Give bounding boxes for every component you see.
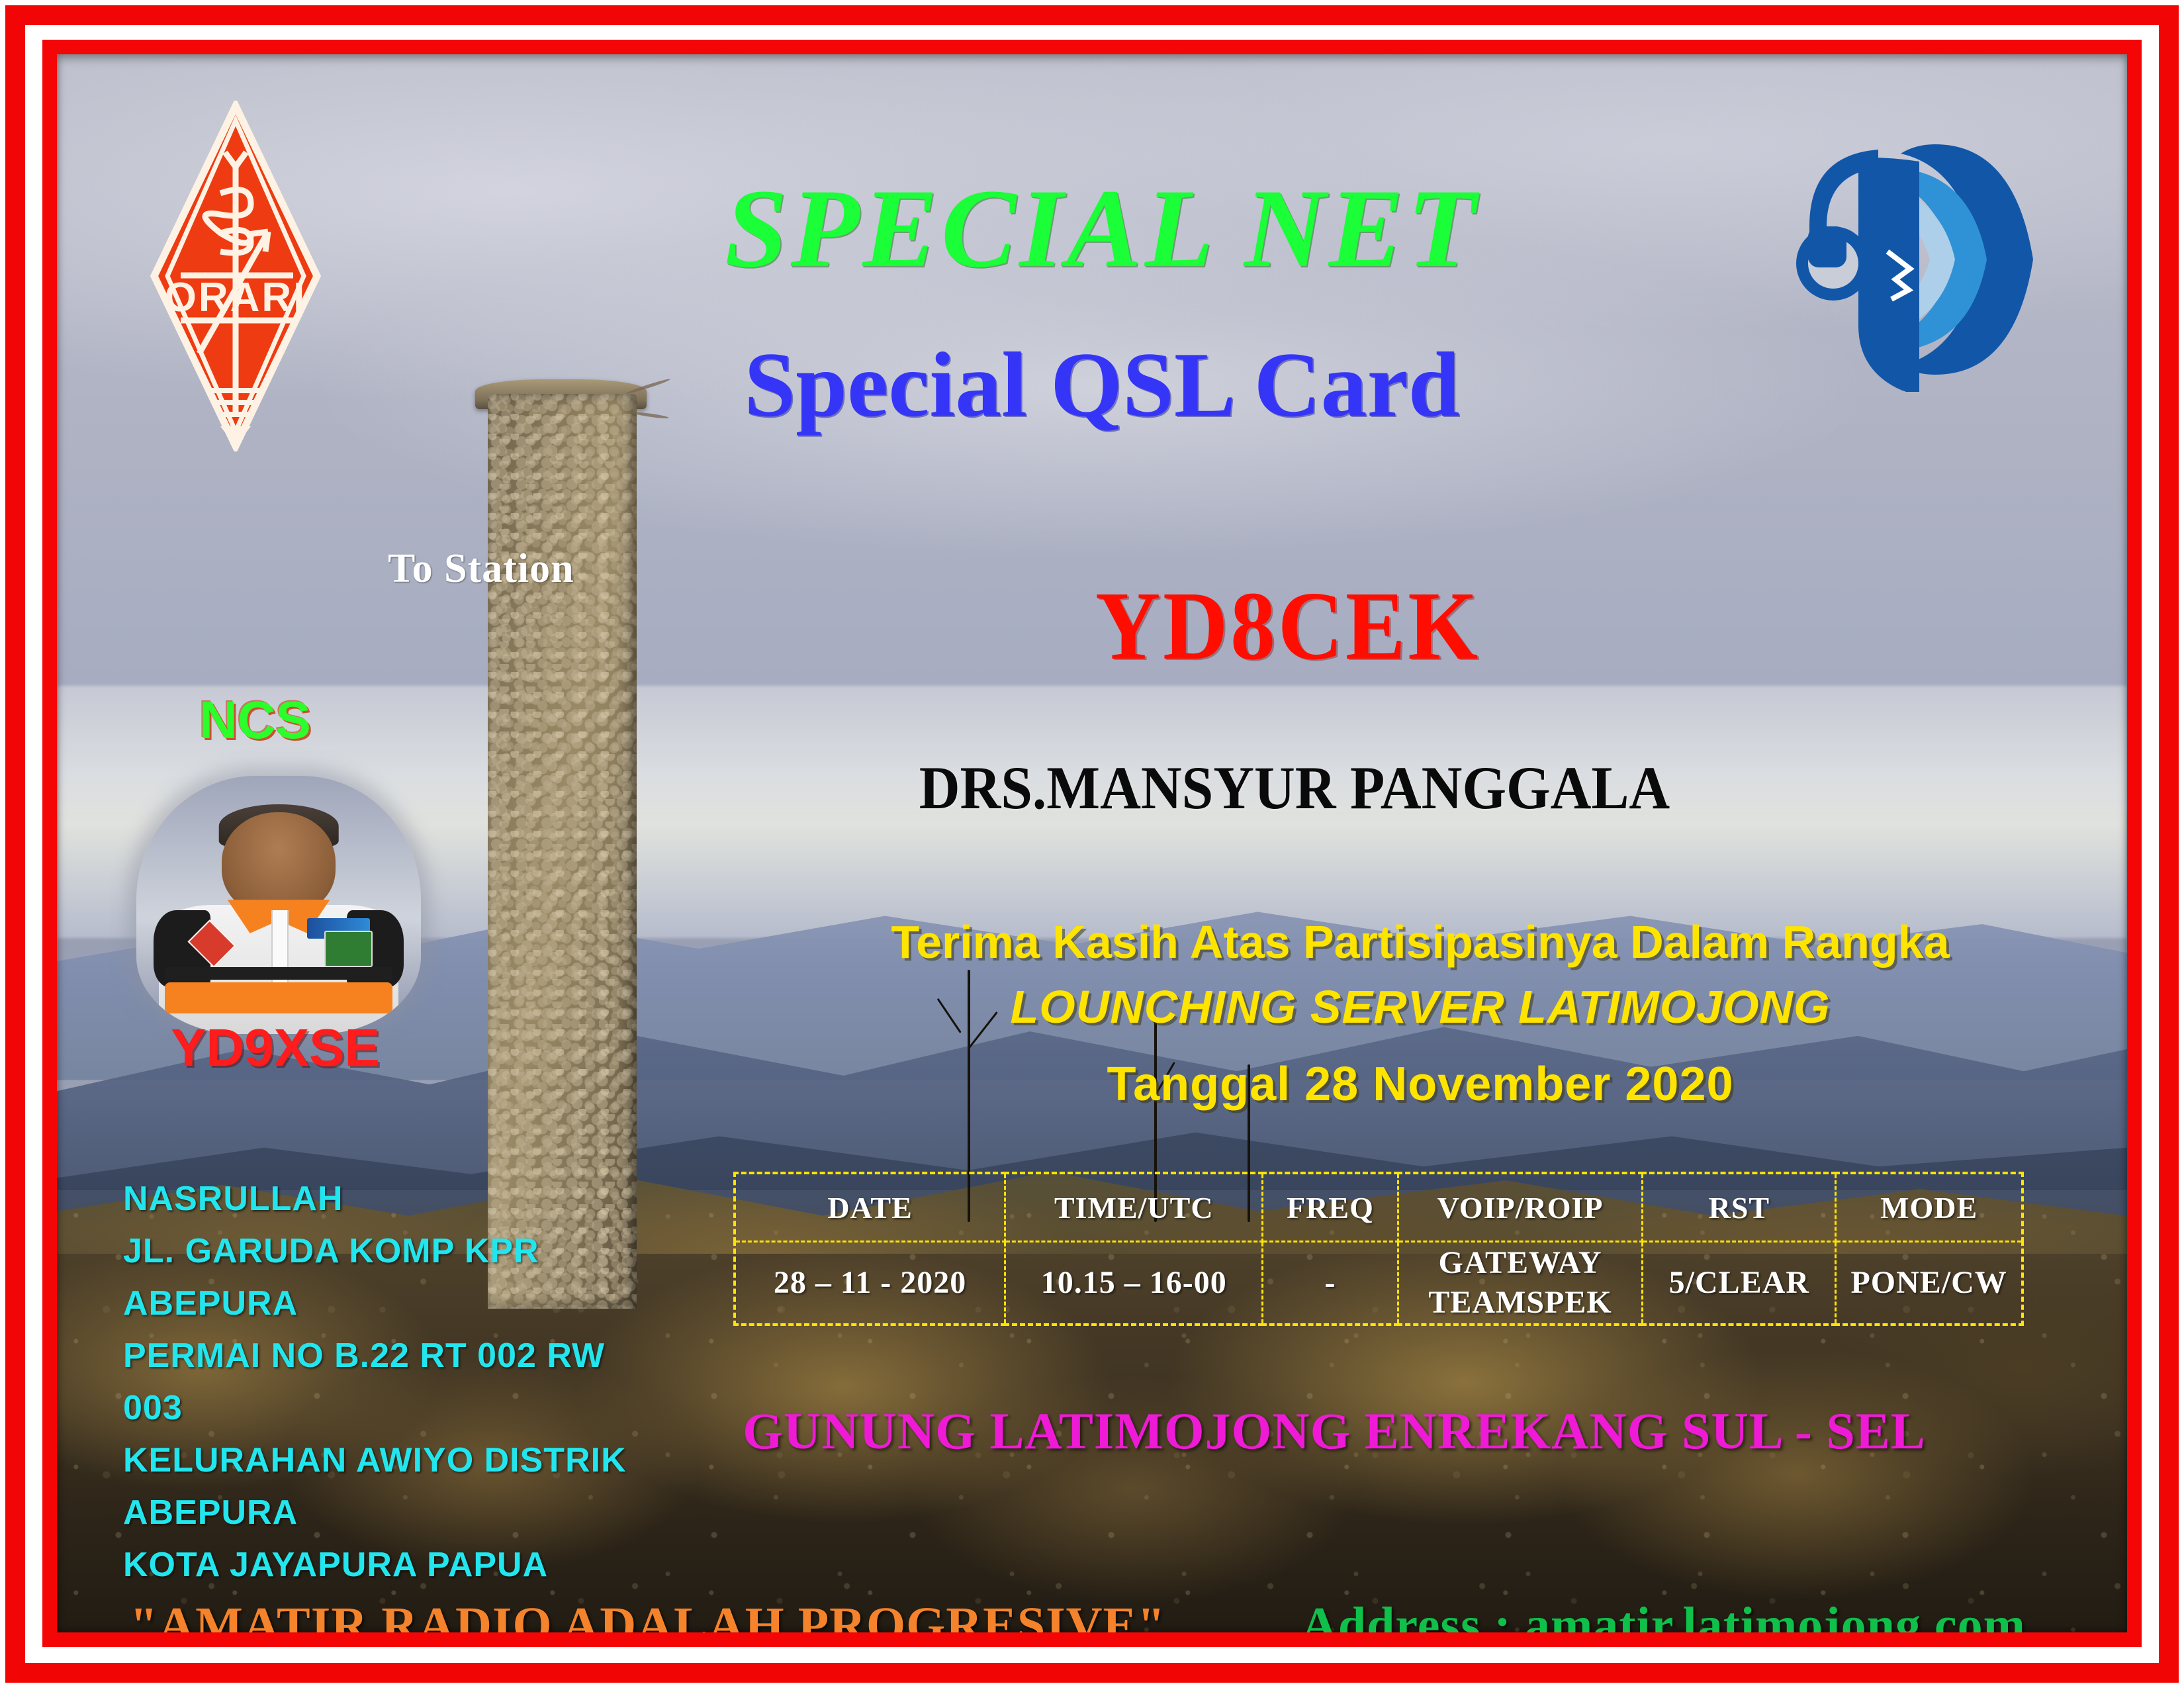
address-line: KOTA JAYAPURA PAPUA [123,1539,639,1591]
thanks-message-block: Terima Kasih Atas Partisipasinya Dalam R… [792,915,2049,1125]
inner-red-border: ORARI SPECIAL NET Special QSL Card [42,40,2142,1647]
subtitle-special-qsl-card: Special QSL Card [57,339,2127,432]
qsl-card: ORARI SPECIAL NET Special QSL Card [0,0,2184,1688]
column-header-mode: MODE [1836,1173,2023,1242]
footer-motto: "AMATIR RADIO ADALAH PROGRESIVE" [130,1597,1165,1647]
column-header-freq: FREQ [1263,1173,1398,1242]
cell-time: 10.15 – 16-00 [1005,1242,1263,1325]
thanks-line-1: Terima Kasih Atas Partisipasinya Dalam R… [792,915,2049,970]
column-header-rst: RST [1643,1173,1836,1242]
address-line: JL. GARUDA KOMP KPR [123,1225,639,1278]
column-header-date: DATE [735,1173,1005,1242]
address-line: NASRULLAH [123,1173,639,1225]
sender-address-block: NASRULLAH JL. GARUDA KOMP KPR ABEPURA PE… [123,1173,639,1591]
avatar-sash [165,982,392,1013]
address-line: ABEPURA [123,1278,639,1330]
ncs-operator-avatar [136,776,421,1034]
avatar-id-badge [324,931,373,967]
to-station-label: To Station [388,545,574,592]
cell-rst: 5/CLEAR [1643,1242,1836,1325]
avatar-belt [165,967,392,980]
footer-address-url: Address : amatir.latimojong.com [1301,1597,2026,1647]
address-line: ABEPURA [123,1487,639,1539]
address-line: KELURAHAN AWIYO DISTRIK [123,1434,639,1487]
ncs-label: NCS [199,690,311,751]
cell-freq: - [1263,1242,1398,1325]
column-header-voip-roip: VOIP/ROIP [1398,1173,1643,1242]
page-title-special-net: SPECIAL NET [57,172,2127,285]
table-header-row: DATE TIME/UTC FREQ VOIP/ROIP RST MODE [735,1173,2023,1242]
recipient-callsign: YD8CEK [862,577,1714,675]
cell-mode: PONE/CW [1836,1242,2023,1325]
cell-date: 28 – 11 - 2020 [735,1242,1005,1325]
card-overlay: ORARI SPECIAL NET Special QSL Card [57,54,2127,1632]
thanks-line-2: LOUNCHING SERVER LATIMOJONG [792,970,2049,1044]
table-row: 28 – 11 - 2020 10.15 – 16-00 - GATEWAY T… [735,1242,2023,1325]
recipient-operator-name: DRS.MANSYUR PANGGALA [827,757,1762,818]
thanks-line-3: Tanggal 28 November 2020 [792,1044,2049,1125]
address-line: PERMAI NO B.22 RT 002 RW 003 [123,1330,639,1434]
ncs-callsign: YD9XSE [143,1017,408,1078]
qso-log-table: DATE TIME/UTC FREQ VOIP/ROIP RST MODE 28… [733,1172,2024,1326]
location-line: GUNUNG LATIMOJONG ENREKANG SUL - SEL [705,1401,1963,1461]
column-header-time-utc: TIME/UTC [1005,1173,1263,1242]
cell-voip: GATEWAY TEAMSPEK [1398,1242,1643,1325]
